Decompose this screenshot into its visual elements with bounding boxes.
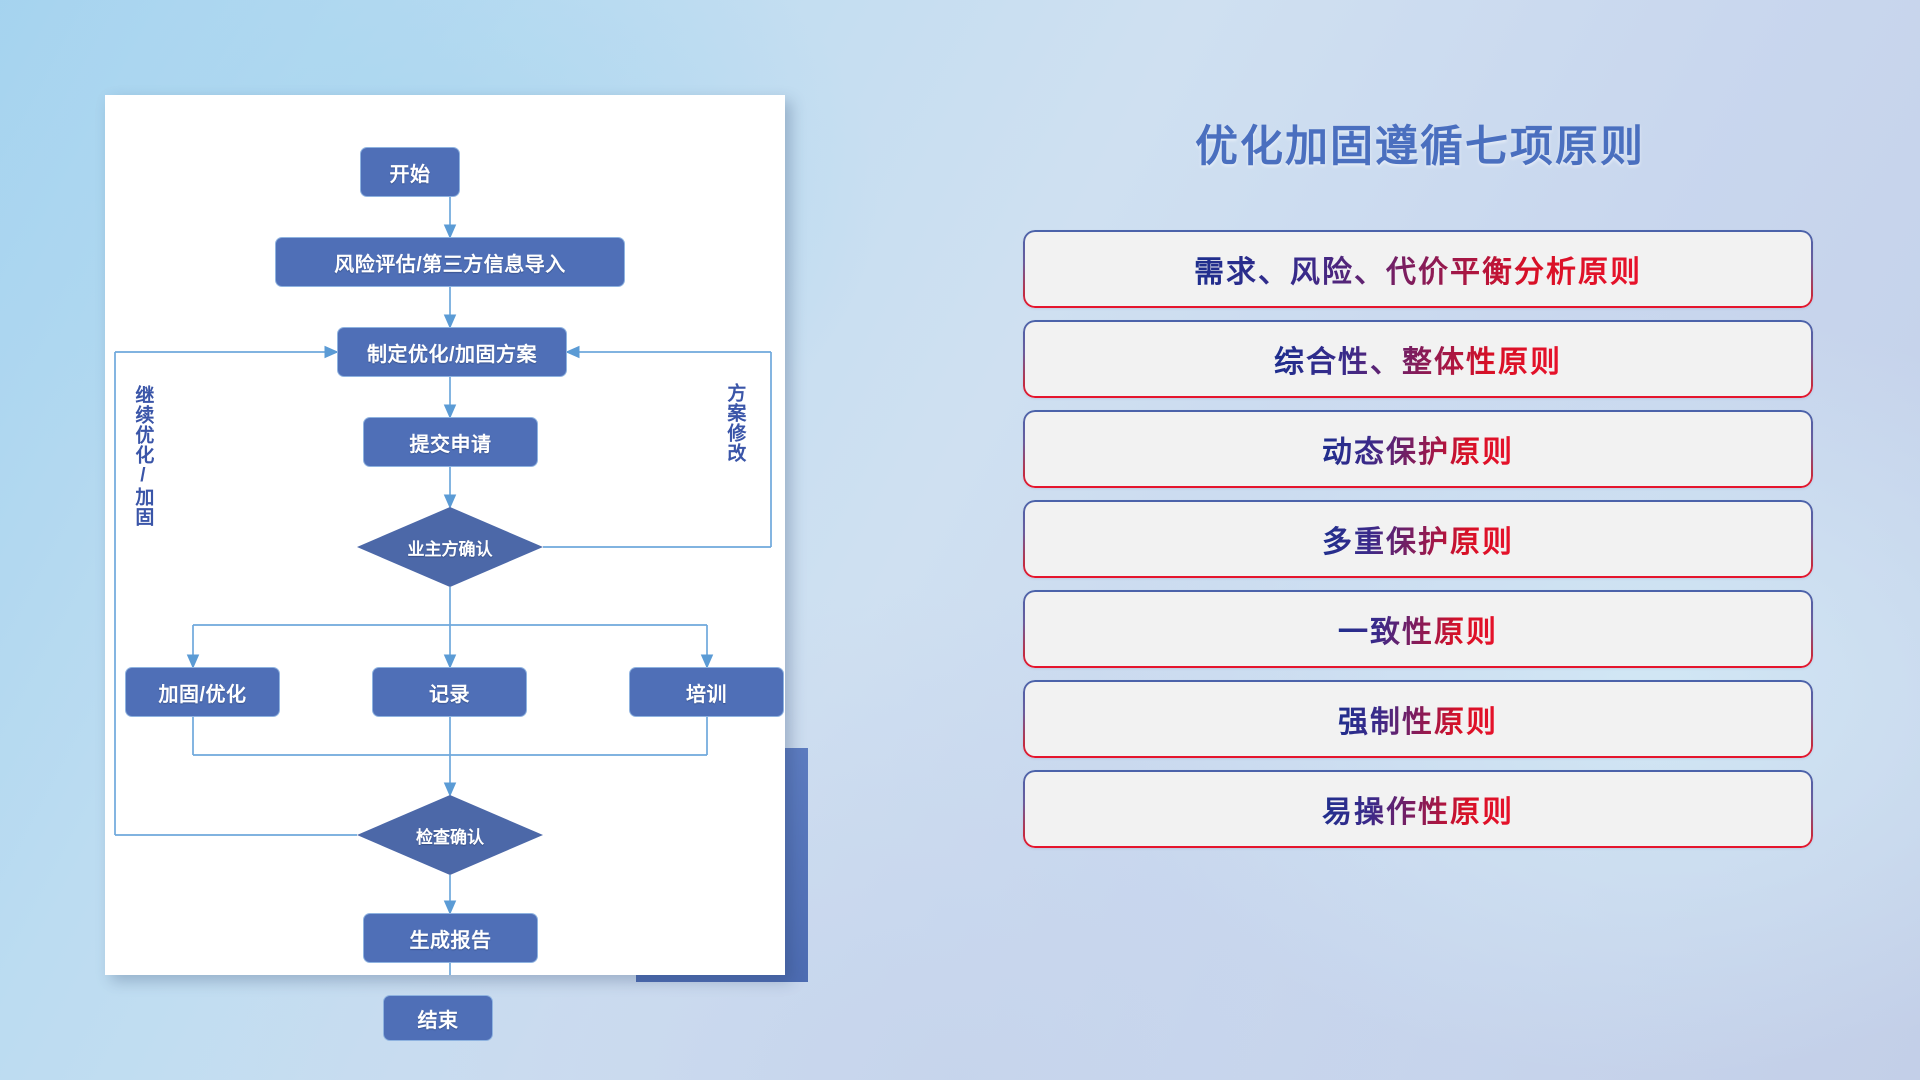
flow-node-label: 开始 bbox=[390, 158, 431, 187]
principles-panel-title: 优化加固遵循七项原则 bbox=[1010, 112, 1830, 174]
flow-node-label: 生成报告 bbox=[410, 924, 492, 953]
flow-node-risk-assessment[interactable]: 风险评估/第三方信息导入 bbox=[275, 237, 625, 287]
principle-item-label: 强制性原则 bbox=[1338, 697, 1498, 741]
flow-node-reinforce[interactable]: 加固/优化 bbox=[125, 667, 280, 717]
flow-node-end[interactable]: 结束 bbox=[383, 995, 493, 1041]
flow-node-training[interactable]: 培训 bbox=[629, 667, 784, 717]
principles-list: 需求、风险、代价平衡分析原则 综合性、整体性原则 动态保护原则 多重保护原则 一… bbox=[1023, 230, 1813, 860]
flow-node-label: 提交申请 bbox=[410, 428, 492, 457]
flow-node-start[interactable]: 开始 bbox=[360, 147, 460, 197]
flow-node-label: 制定优化/加固方案 bbox=[367, 338, 537, 367]
principle-item[interactable]: 多重保护原则 bbox=[1023, 500, 1813, 578]
flow-node-label: 风险评估/第三方信息导入 bbox=[334, 248, 566, 277]
flow-node-label: 加固/优化 bbox=[158, 678, 246, 707]
principle-item[interactable]: 动态保护原则 bbox=[1023, 410, 1813, 488]
flow-node-record[interactable]: 记录 bbox=[372, 667, 527, 717]
flow-node-plan[interactable]: 制定优化/加固方案 bbox=[337, 327, 567, 377]
principle-item[interactable]: 需求、风险、代价平衡分析原则 bbox=[1023, 230, 1813, 308]
principle-item-label: 动态保护原则 bbox=[1322, 427, 1514, 471]
flow-node-submit-application[interactable]: 提交申请 bbox=[363, 417, 538, 467]
principle-item[interactable]: 易操作性原则 bbox=[1023, 770, 1813, 848]
flow-node-label: 记录 bbox=[429, 678, 470, 707]
principle-item-label: 易操作性原则 bbox=[1322, 787, 1514, 831]
flowchart-diagram: 开始 风险评估/第三方信息导入 制定优化/加固方案 提交申请 业主方确认 加固/… bbox=[105, 95, 785, 975]
principle-item-label: 多重保护原则 bbox=[1322, 517, 1514, 561]
flow-node-label: 检查确认 bbox=[416, 823, 484, 848]
flowchart-card: 开始 风险评估/第三方信息导入 制定优化/加固方案 提交申请 业主方确认 加固/… bbox=[105, 95, 785, 975]
principle-item[interactable]: 综合性、整体性原则 bbox=[1023, 320, 1813, 398]
flow-decision-owner-confirm[interactable]: 业主方确认 bbox=[357, 507, 543, 587]
flow-edge-label-continue-optimize: 继续优化/加固 bbox=[133, 385, 152, 527]
flow-edge-label-plan-revision: 方案修改 bbox=[725, 383, 744, 463]
slide-canvas: 开始 风险评估/第三方信息导入 制定优化/加固方案 提交申请 业主方确认 加固/… bbox=[0, 0, 1920, 1080]
principle-item-label: 综合性、整体性原则 bbox=[1274, 337, 1562, 381]
flow-decision-check-confirm[interactable]: 检查确认 bbox=[357, 795, 543, 875]
flow-node-label: 业主方确认 bbox=[408, 535, 493, 560]
principle-item-label: 需求、风险、代价平衡分析原则 bbox=[1194, 247, 1642, 291]
flow-node-label: 培训 bbox=[686, 678, 727, 707]
principle-item[interactable]: 一致性原则 bbox=[1023, 590, 1813, 668]
flow-node-label: 结束 bbox=[418, 1004, 459, 1033]
flow-node-generate-report[interactable]: 生成报告 bbox=[363, 913, 538, 963]
principle-item[interactable]: 强制性原则 bbox=[1023, 680, 1813, 758]
principle-item-label: 一致性原则 bbox=[1338, 607, 1498, 651]
